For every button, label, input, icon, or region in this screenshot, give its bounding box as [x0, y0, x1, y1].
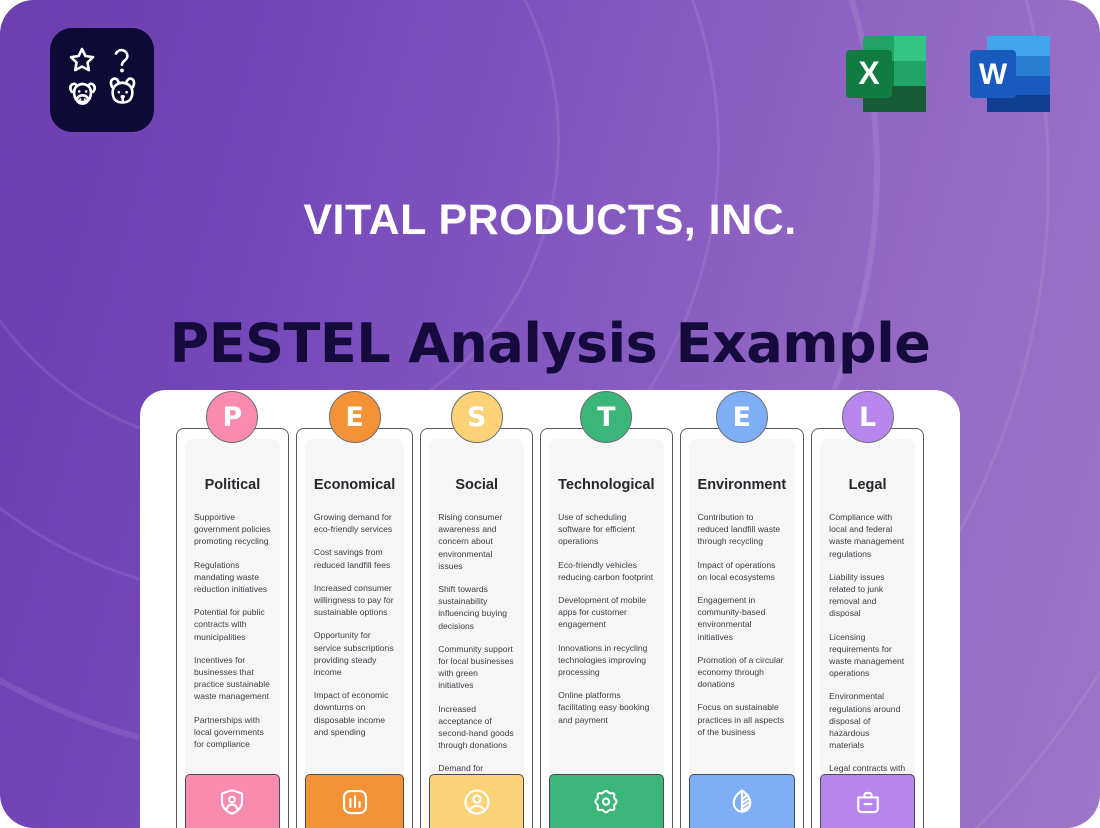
- pestel-bullet: Engagement in community-based environmen…: [698, 594, 787, 643]
- shield-person-icon: [185, 774, 280, 828]
- gear-icon: [549, 774, 663, 828]
- pestel-bullet: Increased acceptance of second-hand good…: [438, 703, 515, 752]
- pestel-column-title: Technological: [558, 477, 654, 493]
- pestel-column-panel: PoliticalSupportive government policies …: [185, 439, 280, 828]
- svg-text:X: X: [858, 55, 880, 91]
- pestel-column-title: Social: [438, 477, 515, 493]
- pestel-column-political[interactable]: PPoliticalSupportive government policies…: [176, 428, 289, 828]
- pestel-bullet: Regulations mandating waste reduction in…: [194, 559, 271, 596]
- brand-logo: [50, 28, 154, 132]
- pestel-letter-badge: S: [451, 391, 503, 443]
- pestel-bullet: Contribution to reduced landfill waste t…: [698, 511, 787, 548]
- pestel-bullet: Environmental regulations around disposa…: [829, 690, 906, 751]
- office-app-icons: X W: [838, 28, 1058, 124]
- pestel-column-social[interactable]: SSocialRising consumer awareness and con…: [420, 428, 533, 828]
- pestel-column-panel: EnvironmentContribution to reduced landf…: [689, 439, 796, 828]
- pestel-bullet: Partnerships with local governments for …: [194, 714, 271, 751]
- pestel-bullet: Licensing requirements for waste managem…: [829, 631, 906, 680]
- pestel-bullet: Cost savings from reduced landfill fees: [314, 546, 395, 570]
- pestel-column-title: Environment: [698, 477, 787, 493]
- pestel-bullet: Use of scheduling software for efficient…: [558, 511, 654, 548]
- pestel-bullet: Focus on sustainable practices in all as…: [698, 701, 787, 738]
- pestel-bullet: Growing demand for eco-friendly services: [314, 511, 395, 535]
- pestel-card: PPoliticalSupportive government policies…: [140, 390, 960, 828]
- bar-chart-icon: [305, 774, 404, 828]
- pestel-bullet: Online platforms facilitating easy booki…: [558, 689, 654, 726]
- pestel-bullet: Promotion of a circular economy through …: [698, 654, 787, 691]
- pestel-column-panel: SocialRising consumer awareness and conc…: [429, 439, 524, 828]
- pestel-bullet: Impact of operations on local ecosystems: [698, 559, 787, 583]
- pestel-column-economical[interactable]: EEconomicalGrowing demand for eco-friend…: [296, 428, 413, 828]
- pestel-column-environment[interactable]: EEnvironmentContribution to reduced land…: [680, 428, 805, 828]
- pestel-letter-badge: L: [842, 391, 894, 443]
- pestel-columns: PPoliticalSupportive government policies…: [176, 428, 924, 828]
- company-title: VITAL PRODUCTS, INC.: [0, 196, 1100, 245]
- pestel-bullet: Innovations in recycling technologies im…: [558, 642, 654, 679]
- page-title-keyword: PESTEL: [170, 312, 391, 375]
- pestel-bullet: Rising consumer awareness and concern ab…: [438, 511, 515, 572]
- person-icon: [429, 774, 524, 828]
- pestel-bullet-list: Growing demand for eco-friendly services…: [314, 511, 395, 738]
- pestel-bullet: Opportunity for service subscriptions pr…: [314, 629, 395, 678]
- pestel-bullet: Incentives for businesses that practice …: [194, 654, 271, 703]
- pestel-bullet: Increased consumer willingness to pay fo…: [314, 582, 395, 619]
- pestel-bullet-list: Use of scheduling software for efficient…: [558, 511, 654, 726]
- pestel-column-title: Political: [194, 477, 271, 493]
- pestel-letter-badge: T: [580, 391, 632, 443]
- excel-icon: X: [838, 28, 934, 124]
- pestel-column-panel: EconomicalGrowing demand for eco-friendl…: [305, 439, 404, 828]
- pestel-column-panel: LegalCompliance with local and federal w…: [820, 439, 915, 828]
- page-title-rest: Analysis Example: [408, 312, 930, 375]
- pestel-column-title: Economical: [314, 477, 395, 493]
- pestel-bullet: Supportive government policies promoting…: [194, 511, 271, 548]
- poster-canvas: X W VITAL PRODUCTS, INC. PESTELAnalysis …: [0, 0, 1100, 828]
- pestel-column-panel: TechnologicalUse of scheduling software …: [549, 439, 663, 828]
- page-title: PESTELAnalysis Example: [0, 312, 1100, 375]
- briefcase-icon: [820, 774, 915, 828]
- pestel-bullet: Eco-friendly vehicles reducing carbon fo…: [558, 559, 654, 583]
- pestel-bullet: Community support for local businesses w…: [438, 643, 515, 692]
- pestel-letter-badge: E: [716, 391, 768, 443]
- pestel-bullet: Impact of economic downturns on disposab…: [314, 689, 395, 738]
- leaf-icon: [689, 774, 796, 828]
- pestel-bullet: Development of mobile apps for customer …: [558, 594, 654, 631]
- pestel-bullet: Liability issues related to junk removal…: [829, 571, 906, 620]
- pestel-letter-badge: P: [206, 391, 258, 443]
- pestel-column-title: Legal: [829, 477, 906, 493]
- pestel-column-legal[interactable]: LLegalCompliance with local and federal …: [811, 428, 924, 828]
- pestel-bullet-list: Contribution to reduced landfill waste t…: [698, 511, 787, 738]
- pestel-letter-badge: E: [329, 391, 381, 443]
- pestel-column-technological[interactable]: TTechnologicalUse of scheduling software…: [540, 428, 672, 828]
- pestel-bullet: Potential for public contracts with muni…: [194, 606, 271, 643]
- word-icon: W: [962, 28, 1058, 124]
- pestel-bullet-list: Supportive government policies promoting…: [194, 511, 271, 750]
- pestel-bullet-list: Compliance with local and federal waste …: [829, 511, 906, 799]
- pestel-bullet: Shift towards sustainability influencing…: [438, 583, 515, 632]
- pestel-bullet: Compliance with local and federal waste …: [829, 511, 906, 560]
- svg-text:W: W: [979, 58, 1008, 91]
